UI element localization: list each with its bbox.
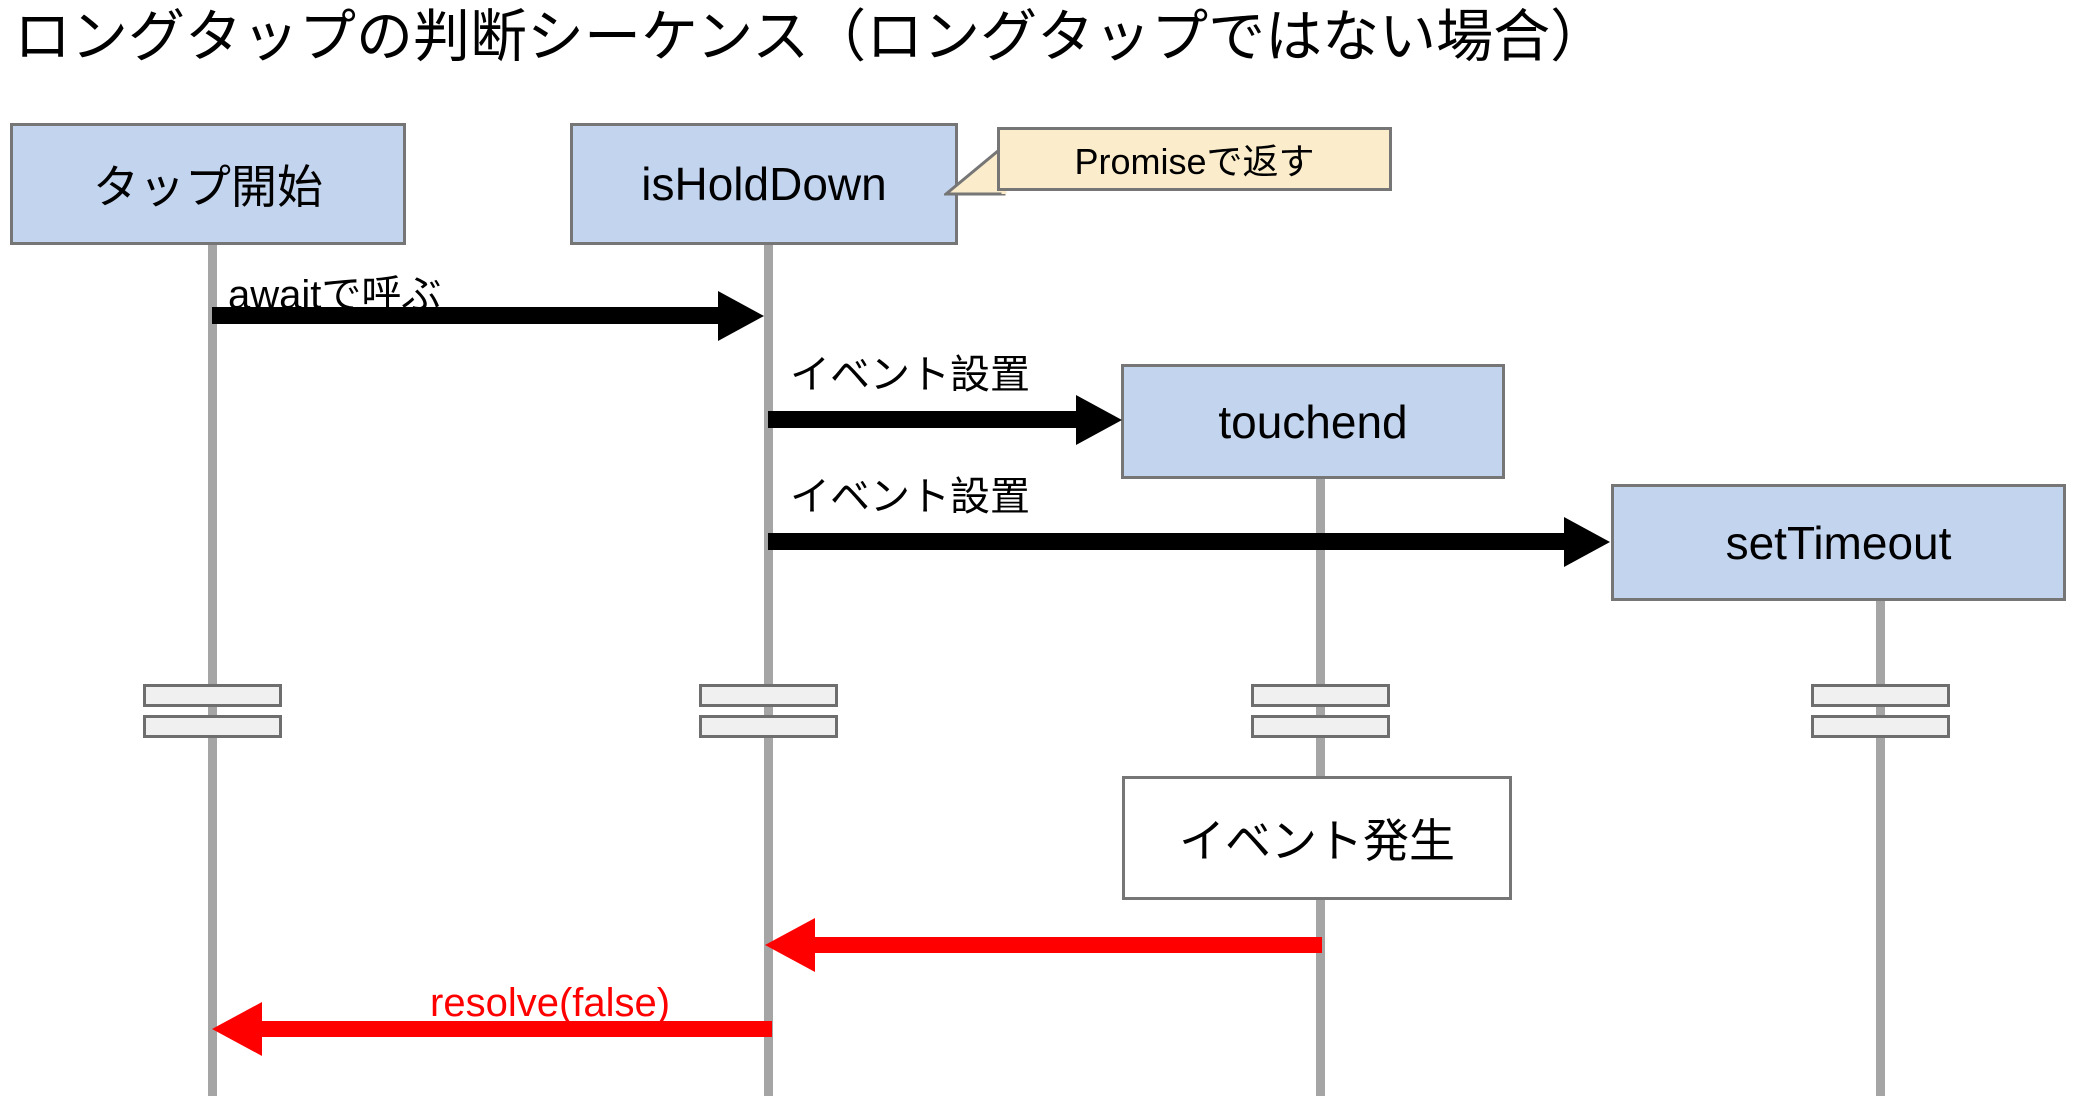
promise-note[interactable]: Promiseで返す <box>997 127 1392 191</box>
message-line-set-timeout <box>768 533 1566 550</box>
break-bar-top <box>1811 684 1950 707</box>
participant-box-set-timeout[interactable]: setTimeout <box>1611 484 2066 601</box>
message-arrowhead-set-timeout <box>1564 517 1610 567</box>
break-bar-top <box>699 684 838 707</box>
break-marker-is-hold-down <box>699 684 838 738</box>
message-line-await <box>212 307 718 324</box>
message-label-set-timeout: イベント設置 <box>790 464 1030 522</box>
break-bar-top <box>143 684 282 707</box>
event-fired-note-label: イベント発生 <box>1179 805 1455 871</box>
message-label-set-touchend: イベント設置 <box>790 342 1030 400</box>
participant-label-tap-start: タップ開始 <box>93 151 323 217</box>
break-bar-bottom <box>1251 715 1390 738</box>
message-line-set-touchend <box>768 411 1078 428</box>
sequence-diagram-canvas: ロングタップの判断シーケンス（ロングタップではない場合） タップ開始 isHol… <box>0 0 2075 1096</box>
message-label-resolve-false: resolve(false) <box>430 981 670 1026</box>
break-bar-bottom <box>143 715 282 738</box>
message-arrowhead-event-return <box>765 918 815 972</box>
message-arrowhead-resolve-false <box>212 1002 262 1056</box>
participant-box-tap-start[interactable]: タップ開始 <box>10 123 406 245</box>
participant-box-is-hold-down[interactable]: isHoldDown <box>570 123 958 245</box>
page-title: ロングタップの判断シーケンス（ロングタップではない場合） <box>14 0 1607 76</box>
participant-box-touchend[interactable]: touchend <box>1121 364 1505 479</box>
lifeline-tap-start <box>208 243 217 1096</box>
break-bar-bottom <box>1811 715 1950 738</box>
participant-label-is-hold-down: isHoldDown <box>641 157 886 211</box>
message-line-event-return <box>815 937 1322 953</box>
message-arrowhead-await <box>718 291 764 341</box>
break-marker-touchend <box>1251 684 1390 738</box>
break-marker-set-timeout <box>1811 684 1950 738</box>
event-fired-note[interactable]: イベント発生 <box>1122 776 1512 900</box>
participant-label-set-timeout: setTimeout <box>1726 516 1952 570</box>
participant-label-touchend: touchend <box>1218 395 1407 449</box>
message-arrowhead-set-touchend <box>1076 395 1122 445</box>
break-bar-top <box>1251 684 1390 707</box>
break-marker-tap-start <box>143 684 282 738</box>
lifeline-set-timeout <box>1876 600 1885 1096</box>
message-line-resolve-false <box>262 1021 772 1037</box>
break-bar-bottom <box>699 715 838 738</box>
promise-note-label: Promiseで返す <box>1074 133 1314 185</box>
